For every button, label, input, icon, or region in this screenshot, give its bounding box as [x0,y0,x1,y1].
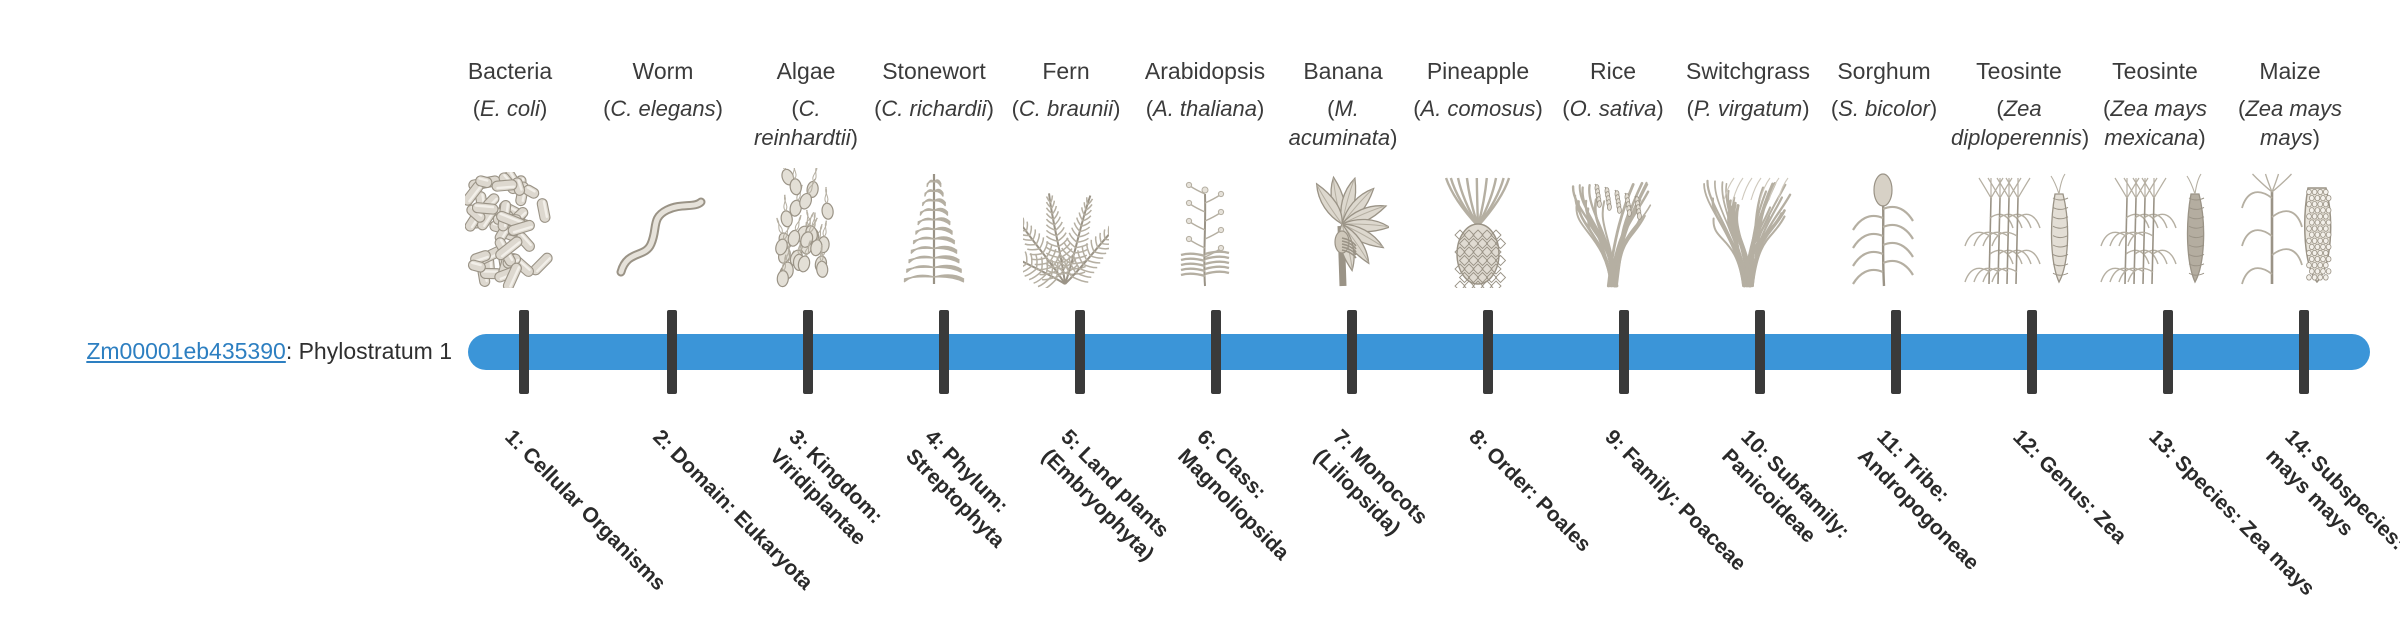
species-common-name: Teosinte [1951,56,2087,86]
bacteria-icon [442,168,578,288]
stratum-label-1: 1: Cellular Organisms [499,424,681,606]
species-common-name: Pineapple [1410,56,1546,86]
tick-mark-1 [519,310,529,394]
species-common-name: Bacteria [442,56,578,86]
sorghum-icon [1816,168,1952,288]
phylostratigraphy-figure: Zm00001eb435390: Phylostratum 1 Bacteria… [0,0,2400,580]
species-latin-name: (E. coli) [442,94,578,123]
species-latin-name: (O. sativa) [1545,94,1681,123]
gene-row-label: Zm00001eb435390: Phylostratum 1 [0,338,452,365]
species-header-fern: Fern(C. braunii) [998,56,1134,123]
worm-icon [595,168,731,288]
species-header-teosinte: Teosinte(Zea mays mexicana) [2087,56,2223,152]
species-common-name: Rice [1545,56,1681,86]
tick-mark-12 [2027,310,2037,394]
species-header-teosinte: Teosinte(Zea diploperennis) [1951,56,2087,152]
tick-mark-14 [2299,310,2309,394]
species-header-pineapple: Pineapple(A. comosus) [1410,56,1546,123]
teosinte-mexicana-icon [2087,168,2223,288]
species-latin-name: (Zea mays mexicana) [2087,94,2223,152]
stratum-label-14: 14: Subspecies: Zea mays mays [2260,424,2400,625]
species-latin-name: (C. elegans) [595,94,731,123]
species-header-banana: Banana(M. acuminata) [1275,56,1411,152]
species-latin-name: (P. virgatum) [1680,94,1816,123]
species-common-name: Sorghum [1816,56,1952,86]
species-header-bacteria: Bacteria(E. coli) [442,56,578,123]
maize-icon [2222,168,2358,288]
species-latin-name: (C. braunii) [998,94,1134,123]
teosinte-diploperennis-icon [1951,168,2087,288]
stratum-name: Kingdom: Viridiplantae [765,439,887,550]
species-header-rice: Rice(O. sativa) [1545,56,1681,123]
species-header-sorghum: Sorghum(S. bicolor) [1816,56,1952,123]
phylostratum-value: Phylostratum 1 [299,338,452,364]
fern-icon [998,168,1134,288]
tick-mark-8 [1483,310,1493,394]
species-latin-name: (C. richardii) [866,94,1002,123]
stratum-name: Cellular Organisms [514,439,671,596]
species-latin-name: (A. comosus) [1410,94,1546,123]
tick-mark-3 [803,310,813,394]
species-common-name: Maize [2222,56,2358,86]
tick-mark-6 [1211,310,1221,394]
species-common-name: Worm [595,56,731,86]
species-common-name: Algae [738,56,874,86]
switchgrass-icon [1680,168,1816,288]
species-header-maize: Maize(Zea mays mays) [2222,56,2358,152]
pineapple-icon [1410,168,1546,288]
species-common-name: Banana [1275,56,1411,86]
species-common-name: Arabidopsis [1137,56,1273,86]
stratum-name: Monocots (Liliopsida) [1309,439,1432,540]
stratum-name: Genus: Zea [2030,447,2131,548]
tick-mark-4 [939,310,949,394]
gene-id-link[interactable]: Zm00001eb435390 [86,338,286,364]
species-header-algae: Algae(C. reinhardtii) [738,56,874,152]
rice-icon [1545,168,1681,288]
species-latin-name: (Zea mays mays) [2222,94,2358,152]
row-label-separator: : [286,338,299,364]
stonewort-icon [866,168,1002,288]
stratum-name: Subfamily: Panicoideae [1717,445,1854,548]
species-latin-name: (C. reinhardtii) [738,94,874,152]
species-common-name: Switchgrass [1680,56,1816,86]
species-header-arabidopsis: Arabidopsis(A. thaliana) [1137,56,1273,123]
banana-icon [1275,168,1411,288]
tick-mark-13 [2163,310,2173,394]
stratum-name: Order: Poales [1478,439,1596,557]
arabidopsis-icon [1137,168,1273,288]
tick-mark-5 [1075,310,1085,394]
algae-icon [738,168,874,288]
tick-mark-2 [667,310,677,394]
tick-mark-9 [1619,310,1629,394]
species-latin-name: (M. acuminata) [1275,94,1411,152]
tick-mark-7 [1347,310,1357,394]
phylostratum-bar [468,334,2370,370]
tick-mark-10 [1755,310,1765,394]
species-latin-name: (S. bicolor) [1816,94,1952,123]
species-common-name: Teosinte [2087,56,2223,86]
species-header-switchgrass: Switchgrass(P. virgatum) [1680,56,1816,123]
species-latin-name: (A. thaliana) [1137,94,1273,123]
species-latin-name: (Zea diploperennis) [1951,94,2087,152]
stratum-name: Phylum: Streptophyta [901,439,1012,553]
species-header-stonewort: Stonewort(C. richardii) [866,56,1002,123]
species-common-name: Stonewort [866,56,1002,86]
species-header-worm: Worm(C. elegans) [595,56,731,123]
species-common-name: Fern [998,56,1134,86]
tick-mark-11 [1891,310,1901,394]
